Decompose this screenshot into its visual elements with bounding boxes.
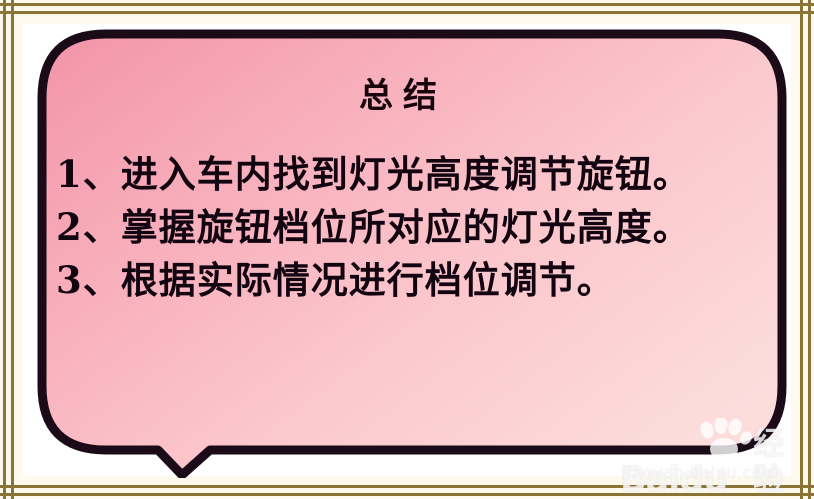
- frame-line-right-inner: [800, 0, 803, 499]
- frame-line-top-outer: [0, 3, 814, 6]
- frame-line-top-inner: [0, 11, 814, 14]
- callout-bubble-path: [42, 34, 782, 475]
- frame-line-bottom-outer: [0, 493, 814, 496]
- frame-line-left-outer: [3, 0, 6, 499]
- frame-line-left-inner: [11, 0, 14, 499]
- frame-line-right-outer: [808, 0, 811, 499]
- summary-callout-bubble: [34, 26, 791, 478]
- screenshot-root: 总结 1、进入车内找到灯光高度调节旋钮。 2、掌握旋钮档位所对应的灯光高度。 3…: [0, 0, 814, 499]
- frame-line-bottom-inner: [0, 485, 814, 488]
